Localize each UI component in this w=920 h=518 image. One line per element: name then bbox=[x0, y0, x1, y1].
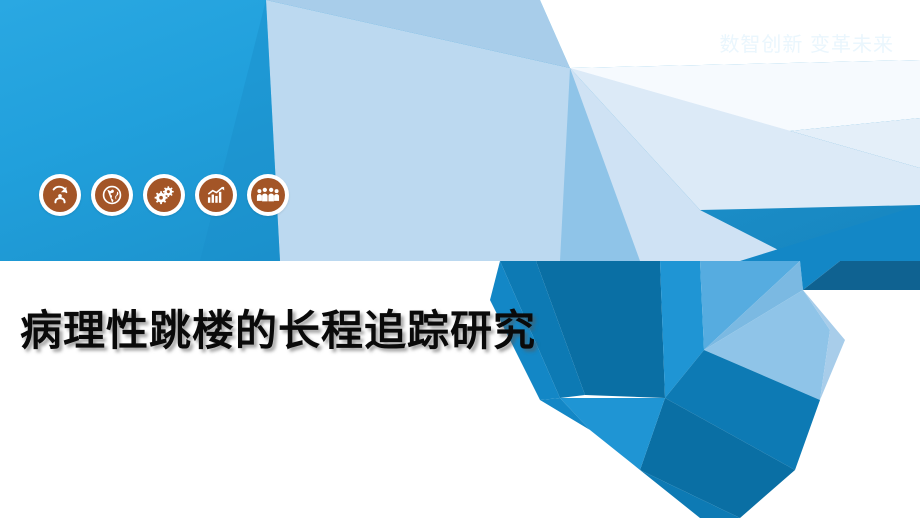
title-slide: 数智创新 变革未来 bbox=[0, 0, 920, 518]
bar-chart-growth-icon bbox=[199, 178, 233, 212]
icon-badge-globe[interactable] bbox=[91, 174, 133, 216]
feature-icon-row bbox=[39, 174, 289, 216]
page-title: 病理性跳楼的长程追踪研究 bbox=[20, 297, 536, 358]
icon-badge-people-group[interactable] bbox=[247, 174, 289, 216]
icon-badge-refresh-person[interactable] bbox=[39, 174, 81, 216]
poly-band-right-blue bbox=[740, 205, 920, 261]
icon-badge-bar-chart[interactable] bbox=[195, 174, 237, 216]
tagline-text: 数智创新 变革未来 bbox=[719, 28, 894, 57]
globe-icon bbox=[95, 178, 129, 212]
gears-icon bbox=[147, 178, 181, 212]
people-group-icon bbox=[251, 178, 285, 212]
icon-badge-gears[interactable] bbox=[143, 174, 185, 216]
refresh-person-icon bbox=[43, 178, 77, 212]
low-poly-crystal-graphic bbox=[0, 0, 920, 518]
